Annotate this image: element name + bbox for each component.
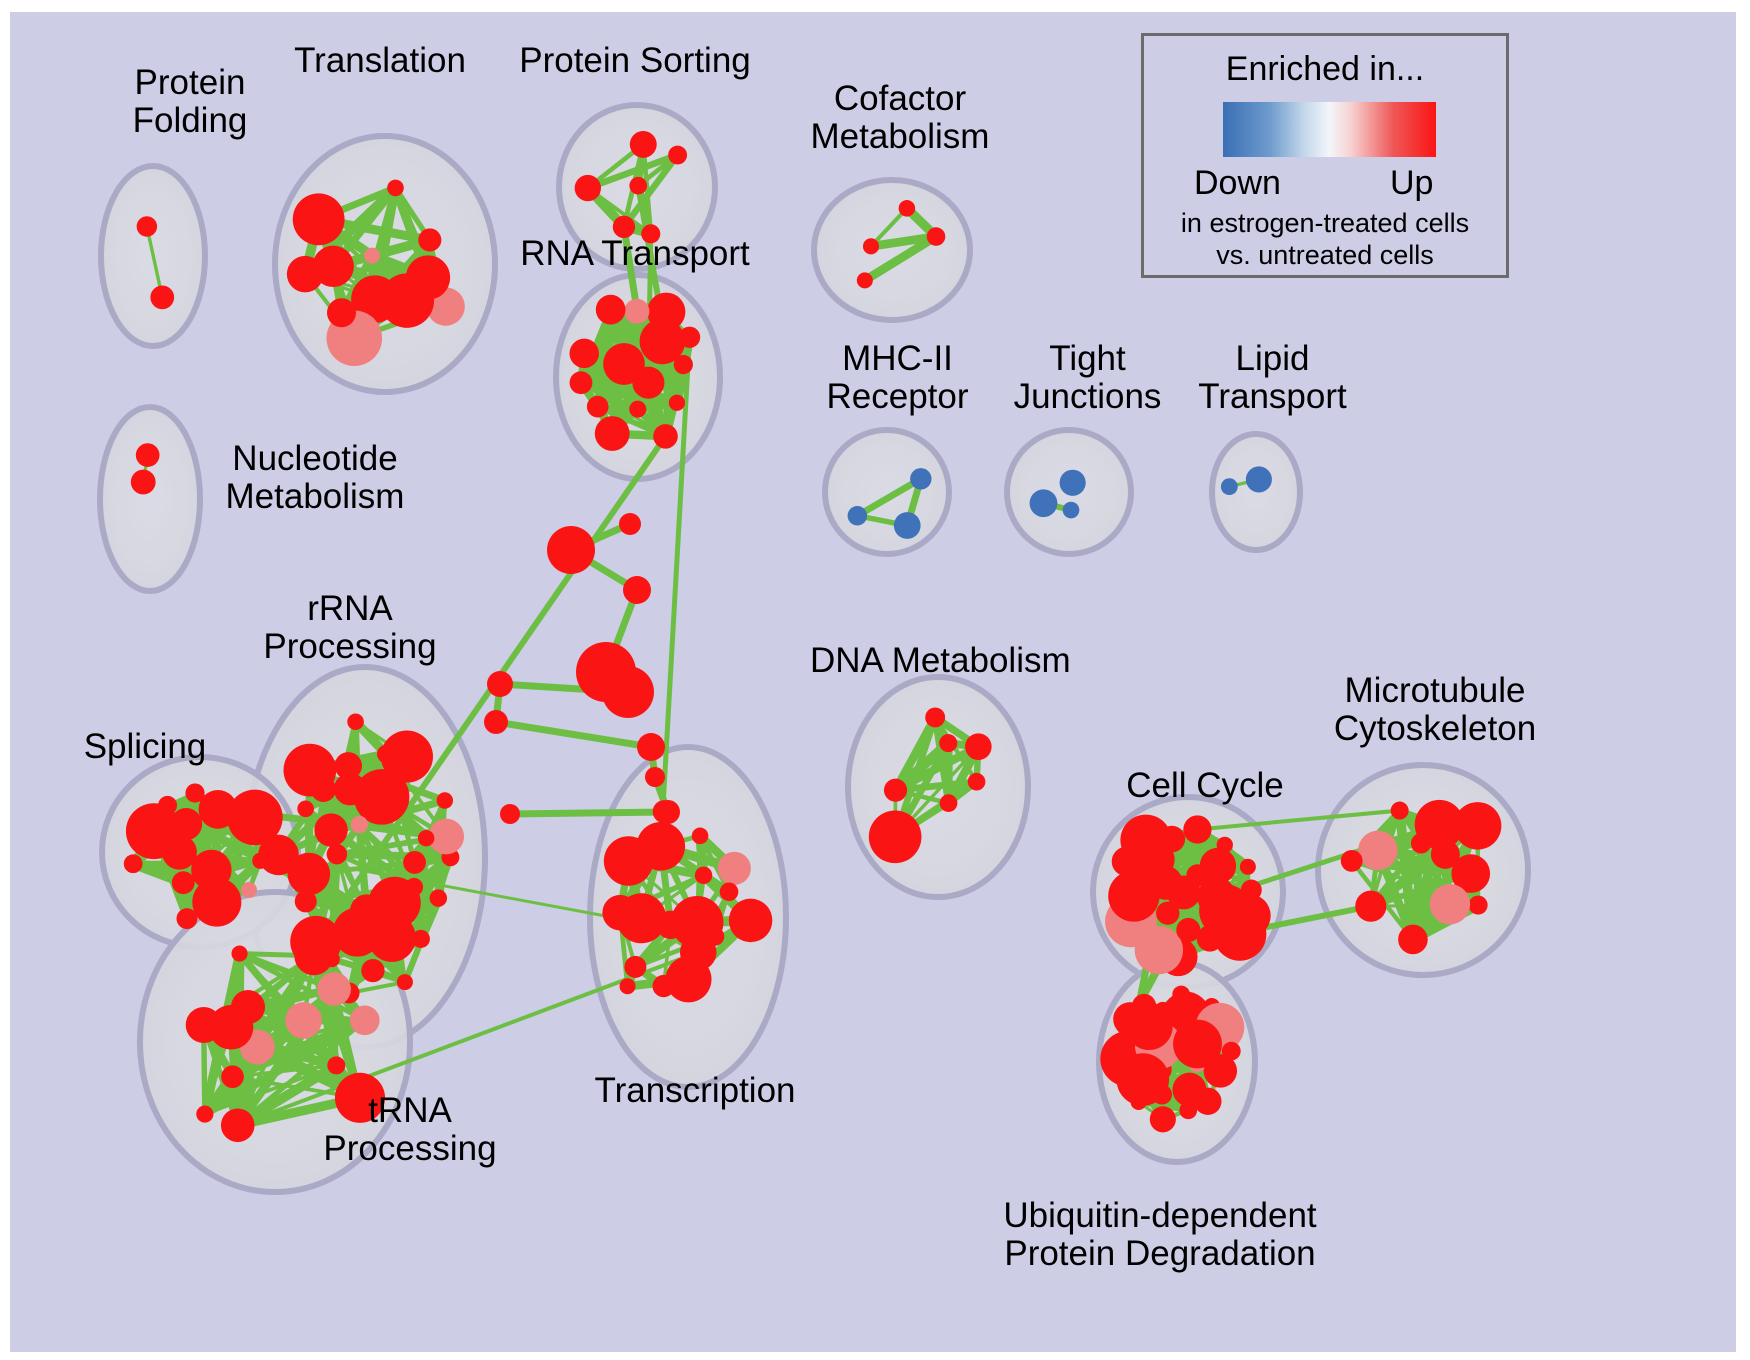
network-node [437,792,453,808]
network-node [131,470,156,495]
network-node [624,299,649,324]
cluster-label-trna-processing: tRNA Processing [310,1092,510,1168]
network-node [312,246,353,287]
network-node [221,1108,255,1142]
network-node [430,889,447,906]
cluster-label-lipid-transport: Lipid Transport [1180,340,1365,416]
network-canvas: Protein FoldingTranslationProtein Sortin… [10,12,1736,1352]
network-node [619,513,641,535]
network-node [285,1002,322,1039]
cluster-label-cofactor-metabolism: Cofactor Metabolism [800,80,1000,156]
cluster-ellipse-mhc-ii-receptor [825,430,949,554]
network-node [968,773,986,791]
network-node [620,978,636,994]
network-node [570,371,593,394]
cluster-label-translation: Translation [265,42,495,80]
network-node [894,512,921,539]
network-node [334,773,367,806]
network-node [351,816,368,833]
cluster-ellipse-cofactor-metabolism [814,180,970,320]
network-node [405,878,423,896]
network-node [297,801,314,818]
network-node [965,733,992,760]
network-node [695,867,712,884]
cluster-label-ubiquitin-degradation: Ubiquitin-dependent Protein Degradation [995,1197,1325,1273]
network-node [124,854,143,873]
network-node [569,339,598,368]
network-node [604,836,653,885]
cluster-label-microtubule-cytoskeleton: Microtubule Cytoskeleton [1310,672,1560,748]
network-node [221,1065,244,1088]
color-scale-bar [1223,102,1436,157]
network-node [387,180,404,197]
cluster-label-mhc-ii-receptor: MHC-II Receptor [805,340,990,416]
network-node [1431,840,1460,869]
network-node [940,794,958,812]
network-node [1240,859,1256,875]
network-node [1213,908,1266,961]
network-node [671,896,724,949]
network-node [1150,1106,1176,1132]
network-node [1246,466,1272,492]
cluster-label-rna-transport: RNA Transport [510,235,760,273]
network-node [327,1056,345,1074]
network-node [295,890,317,912]
network-node [729,899,773,943]
cluster-label-tight-junctions: Tight Junctions [995,340,1180,416]
network-node [939,734,957,752]
cluster-label-rrna-processing: rRNA Processing [250,590,450,666]
network-node [1358,831,1398,871]
network-node [126,803,182,859]
network-node [630,131,657,158]
network-node [595,416,630,451]
cluster-label-nucleotide-metabolism: Nucleotide Metabolism [205,440,425,516]
network-node [293,193,345,245]
network-node [1341,850,1363,872]
network-node [350,894,383,927]
network-node [910,468,931,489]
legend-title: Enriched in... [1144,50,1506,89]
network-node [587,396,609,418]
network-node [718,852,751,885]
legend-box: Enriched in... Down Up in estrogen-treat… [1141,33,1509,278]
network-node [397,974,413,990]
network-node [1158,826,1185,853]
legend-up-label: Up [1390,164,1433,203]
network-node [1149,866,1183,900]
network-node [1173,1020,1222,1069]
cluster-label-splicing: Splicing [65,728,225,766]
network-node [603,343,645,385]
network-node [1117,1053,1170,1106]
network-node [192,878,241,927]
network-node [1176,918,1200,942]
network-node [361,959,384,982]
network-node [150,285,174,309]
network-node [624,956,646,978]
network-node [656,800,680,824]
network-node [227,790,283,846]
network-node [679,327,700,348]
network-node [848,506,867,525]
network-node [1194,1088,1221,1115]
network-node [637,733,665,761]
network-node [196,1106,213,1123]
network-node [484,710,508,734]
network-node [418,830,434,846]
network-node [884,779,907,802]
cluster-label-dna-metabolism: DNA Metabolism [810,642,1070,680]
network-node [1063,502,1080,519]
network-node [136,443,160,467]
network-node [1398,925,1428,955]
network-node [403,851,426,874]
legend-subtitle-line1: in estrogen-treated cells [1144,208,1506,239]
network-node [1172,986,1190,1004]
cluster-label-transcription: Transcription [580,1072,810,1110]
network-node [575,175,601,201]
network-node [314,813,347,846]
cluster-label-protein-sorting: Protein Sorting [510,42,760,80]
network-node [668,146,687,165]
legend-down-label: Down [1194,164,1281,203]
network-node [311,777,336,802]
network-node [692,828,709,845]
network-node [418,228,441,251]
backbone-edge [510,812,668,814]
network-node [1179,1101,1197,1119]
network-node [1217,837,1233,853]
network-node [1183,815,1211,843]
network-node [231,946,247,962]
network-node [350,1005,380,1035]
network-node [596,295,626,325]
network-node [317,972,351,1006]
network-node [185,783,204,802]
network-node [327,844,347,864]
cluster-label-protein-folding: Protein Folding [90,64,290,140]
network-node [720,882,739,901]
network-node [487,671,513,697]
network-node [645,767,665,787]
network-node [1030,489,1058,517]
network-node [294,936,333,975]
network-node [172,871,195,894]
network-node [653,424,678,449]
network-node [629,177,647,195]
network-node [857,272,873,288]
network-node [347,713,364,730]
network-node [327,298,356,327]
backbone-edge [496,722,651,747]
network-node [623,576,651,604]
network-node [380,273,434,327]
network-node [669,395,685,411]
network-node [653,975,675,997]
network-node [863,238,879,254]
network-node [869,810,922,863]
network-node [1355,891,1386,922]
network-node [381,731,433,783]
network-node [927,227,946,246]
network-node [1430,884,1470,924]
network-node [899,200,916,217]
cluster-ellipse-nucleotide-metabolism [100,407,200,591]
network-node [925,708,945,728]
network-node [364,248,380,264]
network-node [647,293,685,331]
network-node [241,882,257,898]
network-node [412,930,430,948]
network-node [629,401,646,418]
network-node [1391,802,1409,820]
cluster-label-cell-cycle: Cell Cycle [1105,767,1305,805]
legend-subtitle-line2: vs. untreated cells [1144,240,1506,271]
network-node [252,853,268,869]
network-node [1132,994,1156,1018]
network-node [1222,1042,1241,1061]
network-node [137,216,157,236]
network-node [1221,478,1238,495]
network-node [602,666,654,718]
network-node [1135,926,1183,974]
network-node [186,1007,222,1043]
network-node [1469,896,1488,915]
network-node [1060,470,1086,496]
enrichment-map-figure: Protein FoldingTranslationProtein Sortin… [0,0,1750,1360]
network-node [547,526,595,574]
network-node [1454,802,1501,849]
network-node [500,804,520,824]
